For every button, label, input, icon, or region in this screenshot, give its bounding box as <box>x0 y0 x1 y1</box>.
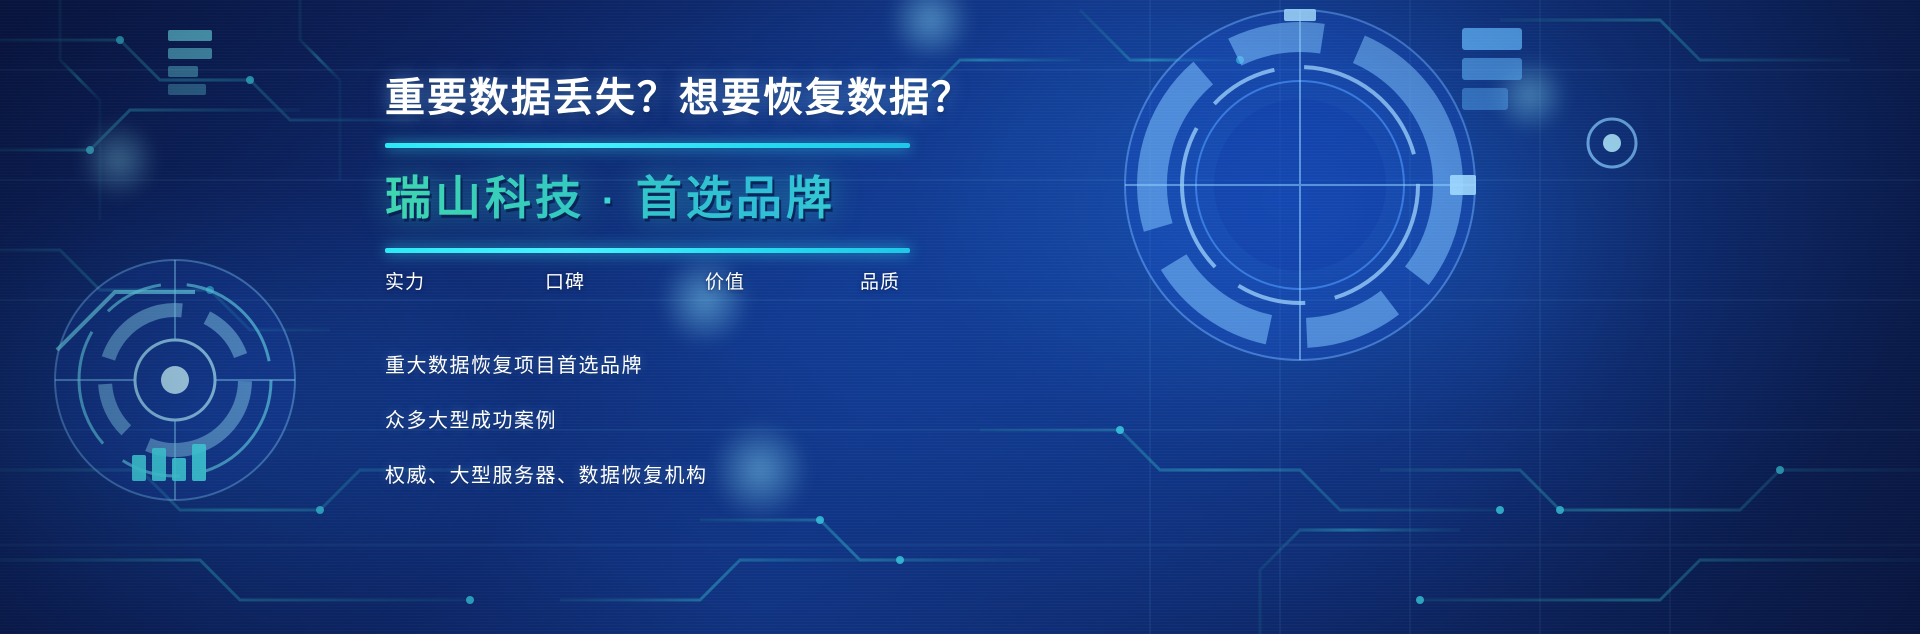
data-bars-top <box>168 30 212 95</box>
page-title: 重要数据丢失？想要恢复数据？ <box>385 75 1085 121</box>
keyword-value: 价值 <box>705 267 860 294</box>
divider-bottom <box>385 248 910 253</box>
keyword-reputation: 口碑 <box>545 267 705 294</box>
keyword-strength: 实力 <box>385 267 545 294</box>
keyword-quality: 品质 <box>860 267 900 294</box>
feature-item-1: 重大数据恢复项目首选品牌 <box>385 349 1085 378</box>
banner-content: 重要数据丢失？想要恢复数据？ 瑞山科技 · 首选品牌 实力 口碑 价值 品质 重… <box>385 75 1085 488</box>
hud-ring-large <box>1100 0 1500 385</box>
feature-item-2: 众多大型成功案例 <box>385 404 1085 433</box>
brand-slogan: 瑞山科技 · 首选品牌 <box>385 162 1085 228</box>
divider-top <box>385 143 910 148</box>
brand-tagline: 首选品牌 <box>636 172 836 224</box>
banner-root: 重要数据丢失？想要恢复数据？ 瑞山科技 · 首选品牌 实力 口碑 价值 品质 重… <box>0 0 1920 634</box>
feature-item-3: 权威、大型服务器、数据恢复机构 <box>385 459 1085 488</box>
hud-target-dot <box>1588 119 1636 167</box>
brand-separator-dot: · <box>602 179 619 223</box>
brand-name: 瑞山科技 <box>385 172 585 224</box>
keyword-row: 实力 口碑 价值 品质 <box>385 267 910 294</box>
feature-list: 重大数据恢复项目首选品牌 众多大型成功案例 权威、大型服务器、数据恢复机构 <box>385 349 1085 488</box>
